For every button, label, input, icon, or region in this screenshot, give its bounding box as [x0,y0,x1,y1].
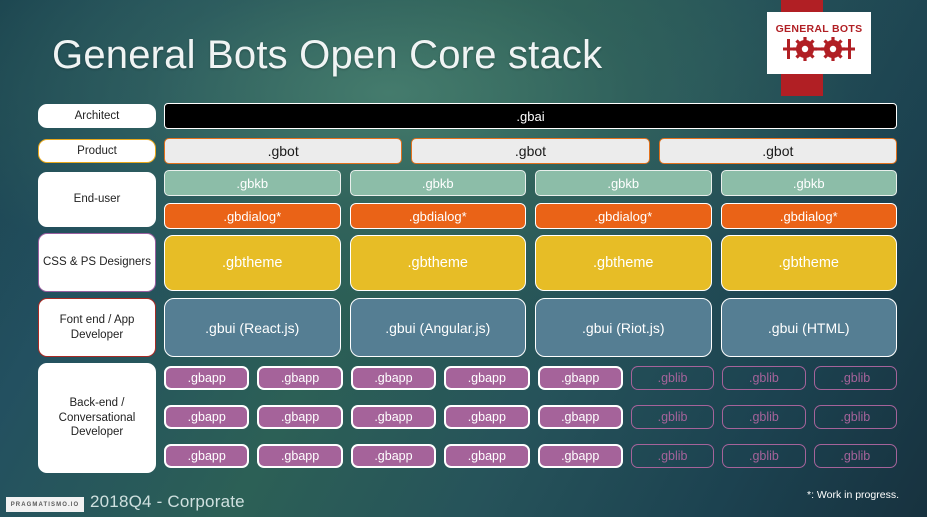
grid-cell-gblib[interactable]: .gblib [631,366,714,390]
stack-row-gbot: .gbot .gbot .gbot [164,138,897,164]
stack-cell-gbtheme[interactable]: .gbtheme [164,235,341,291]
grid-cell-gbapp[interactable]: .gbapp [538,444,623,468]
stack-cell-gbui-react[interactable]: .gbui (React.js) [164,298,341,357]
grid-cell-gbapp[interactable]: .gbapp [164,444,249,468]
footer-caption: 2018Q4 - Corporate [90,492,245,512]
grid-cell-gbapp[interactable]: .gbapp [257,405,342,429]
grid-cell-gblib[interactable]: .gblib [631,444,714,468]
stack-cell-gbui-angular[interactable]: .gbui (Angular.js) [350,298,527,357]
stack-cell-gbdialog[interactable]: .gbdialog* [164,203,341,229]
stack-cell-gbtheme[interactable]: .gbtheme [535,235,712,291]
role-label: Back-end / Conversational Developer [39,396,155,439]
grid-cell-gblib[interactable]: .gblib [814,405,897,429]
grid-row: .gbapp .gbapp .gbapp .gbapp .gbapp .gbli… [164,366,897,390]
stack-cell-gbtheme[interactable]: .gbtheme [721,235,898,291]
grid-cell-gbapp[interactable]: .gbapp [444,444,529,468]
role-label: Font end / App Developer [39,313,155,342]
footnote-work-in-progress: *: Work in progress. [807,489,899,501]
grid-cell-gblib[interactable]: .gblib [722,405,805,429]
logo-text: GENERAL BOTS [776,24,863,35]
stack-cell-gbot[interactable]: .gbot [164,138,402,164]
grid-cell-gbapp[interactable]: .gbapp [257,366,342,390]
grid-cell-gblib[interactable]: .gblib [722,366,805,390]
stack-cell-gbkb[interactable]: .gbkb [350,170,527,196]
grid-cell-gbapp[interactable]: .gbapp [538,366,623,390]
grid-cell-gbapp[interactable]: .gbapp [164,366,249,390]
stack-cell-gbot[interactable]: .gbot [411,138,649,164]
grid-cell-gblib[interactable]: .gblib [814,444,897,468]
stack-cell-gbdialog[interactable]: .gbdialog* [721,203,898,229]
stack-cell-gbai[interactable]: .gbai [164,103,897,129]
grid-cell-gbapp[interactable]: .gbapp [257,444,342,468]
page-title: General Bots Open Core stack [52,33,602,78]
role-back-end-conversational-developer[interactable]: Back-end / Conversational Developer [38,363,156,473]
role-label: End-user [74,192,121,206]
stack-row-gbui: .gbui (React.js) .gbui (Angular.js) .gbu… [164,298,897,357]
general-bots-logo: GENERAL BOTS [767,12,871,74]
pragmatismo-label: PRAGMATISMO.IO [11,502,80,508]
stack-cell-gbtheme[interactable]: .gbtheme [350,235,527,291]
stack-row-gbdialog: .gbdialog* .gbdialog* .gbdialog* .gbdial… [164,203,897,229]
stack-row-gbtheme: .gbtheme .gbtheme .gbtheme .gbtheme [164,235,897,291]
grid-cell-gblib[interactable]: .gblib [631,405,714,429]
stack-cell-gbkb[interactable]: .gbkb [721,170,898,196]
grid-cell-gblib[interactable]: .gblib [722,444,805,468]
role-label: Product [77,144,117,158]
stack-cell-gbot[interactable]: .gbot [659,138,897,164]
role-product[interactable]: Product [38,139,156,163]
slide-canvas: General Bots Open Core stack GENERAL BOT… [0,0,927,517]
pragmatismo-logo: PRAGMATISMO.IO [6,497,84,512]
stack-cell-gbdialog[interactable]: .gbdialog* [535,203,712,229]
role-label: Architect [75,109,120,123]
grid-cell-gbapp[interactable]: .gbapp [538,405,623,429]
grid-row: .gbapp .gbapp .gbapp .gbapp .gbapp .gbli… [164,444,897,468]
role-architect[interactable]: Architect [38,104,156,128]
stack-row-gbai: .gbai [164,103,897,129]
grid-cell-gbapp[interactable]: .gbapp [351,444,436,468]
grid-cell-gblib[interactable]: .gblib [814,366,897,390]
gears-logo-icon [783,36,855,62]
stack-cell-gbui-riot[interactable]: .gbui (Riot.js) [535,298,712,357]
stack-row-gbkb: .gbkb .gbkb .gbkb .gbkb [164,170,897,196]
stack-cell-gbkb[interactable]: .gbkb [164,170,341,196]
grid-cell-gbapp[interactable]: .gbapp [351,366,436,390]
stack-cell-gbui-html[interactable]: .gbui (HTML) [721,298,898,357]
grid-cell-gbapp[interactable]: .gbapp [444,405,529,429]
stack-cell-gbdialog[interactable]: .gbdialog* [350,203,527,229]
role-front-end-app-developer[interactable]: Font end / App Developer [38,298,156,357]
grid-cell-gbapp[interactable]: .gbapp [444,366,529,390]
role-end-user[interactable]: End-user [38,172,156,227]
grid-cell-gbapp[interactable]: .gbapp [164,405,249,429]
grid-cell-gbapp[interactable]: .gbapp [351,405,436,429]
role-label: CSS & PS Designers [43,255,151,269]
stack-cell-gbkb[interactable]: .gbkb [535,170,712,196]
grid-row: .gbapp .gbapp .gbapp .gbapp .gbapp .gbli… [164,405,897,429]
role-css-ps-designers[interactable]: CSS & PS Designers [38,233,156,292]
